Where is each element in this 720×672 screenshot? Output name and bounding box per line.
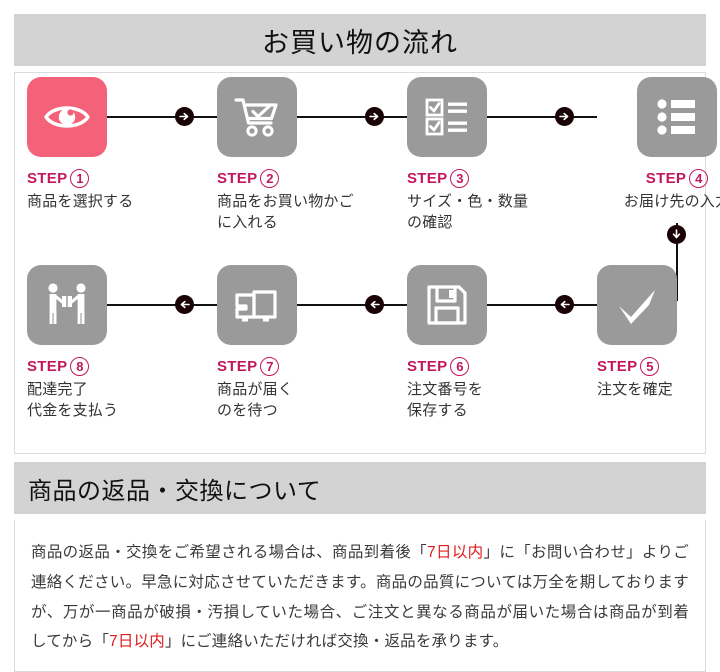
policy-highlight-1: 7日以内 [427, 544, 483, 561]
connector-line-5-6 [487, 304, 597, 306]
step-7-tile [217, 265, 297, 345]
flow-step-5[interactable]: STEP 5 注文を確定 [597, 265, 720, 400]
step-3-tile [407, 77, 487, 157]
step-3-caption: サイズ・色・数量 の確認 [407, 191, 567, 234]
step-6-caption: 注文番号を 保存する [407, 379, 567, 422]
step-7-word: STEP [217, 358, 257, 375]
flow-step-1[interactable]: STEP 1 商品を選択する [27, 77, 187, 212]
step-5-tile [597, 265, 677, 345]
policy-section-header: 商品の返品・交換について [14, 462, 706, 514]
connector-arrow-2-3 [365, 107, 384, 126]
flow-section-header: お買い物の流れ [14, 14, 706, 66]
policy-text-part-3: 」にご連絡いただければ交換・返品を承ります。 [165, 633, 509, 650]
connector-line-6-7 [297, 304, 407, 306]
step-4-caption: お届け先の入力 [597, 191, 720, 212]
policy-body-text: 商品の返品・交換をご希望される場合は、商品到着後「7日以内」に「お問い合わせ」よ… [31, 538, 689, 657]
step-5-word: STEP [597, 358, 637, 375]
connector-line-3-4 [487, 116, 597, 118]
connector-arrow-6-7 [365, 295, 384, 314]
flow-row-top: STEP 1 商品を選択する [15, 77, 705, 263]
eye-icon [42, 92, 92, 142]
connector-arrow-1-2 [175, 107, 194, 126]
flow-step-2[interactable]: STEP 2 商品をお買い物かご に入れる [217, 77, 377, 234]
step-6-label: STEP 6 [407, 356, 567, 376]
connector-line-1-2 [107, 116, 217, 118]
top-spacer [0, 0, 720, 14]
step-6-tile [407, 265, 487, 345]
step-4-tile [637, 77, 717, 157]
connector-arrow-5-6 [555, 295, 574, 314]
step-2-caption: 商品をお買い物かご に入れる [217, 191, 377, 234]
step-4-word: STEP [646, 170, 686, 187]
step-8-caption: 配達完了 代金を支払う [27, 379, 187, 422]
step-3-word: STEP [407, 170, 447, 187]
step-4-label: STEP 4 [597, 168, 720, 188]
step-7-label: STEP 7 [217, 356, 377, 376]
flow-step-4[interactable]: STEP 4 お届け先の入力 [597, 77, 720, 212]
policy-highlight-2: 7日以内 [109, 633, 165, 650]
connector-line-7-8 [107, 304, 217, 306]
handover-package-icon [41, 279, 93, 331]
step-5-number: 5 [640, 357, 659, 376]
flow-step-3[interactable]: STEP 3 サイズ・色・数量 の確認 [407, 77, 567, 234]
policy-body-panel: 商品の返品・交換をご希望される場合は、商品到着後「7日以内」に「お問い合わせ」よ… [14, 520, 706, 672]
step-5-label: STEP 5 [597, 356, 720, 376]
step-2-tile [217, 77, 297, 157]
step-8-number: 8 [70, 357, 89, 376]
step-2-word: STEP [217, 170, 257, 187]
step-3-number: 3 [450, 169, 469, 188]
step-7-caption: 商品が届く のを待つ [217, 379, 377, 422]
flow-step-7[interactable]: STEP 7 商品が届く のを待つ [217, 265, 377, 422]
connector-arrow-3-4 [555, 107, 574, 126]
flow-step-6[interactable]: STEP 6 注文番号を 保存する [407, 265, 567, 422]
shopping-cart-icon [231, 91, 283, 143]
connector-arrow-4-5 [667, 225, 686, 244]
step-8-word: STEP [27, 358, 67, 375]
bullet-list-icon [653, 93, 701, 141]
delivery-truck-icon [231, 279, 283, 331]
shopping-flow-page: お買い物の流れ [0, 0, 720, 672]
connector-arrow-7-8 [175, 295, 194, 314]
step-1-label: STEP 1 [27, 168, 187, 188]
step-6-word: STEP [407, 358, 447, 375]
step-6-number: 6 [450, 357, 469, 376]
step-1-number: 1 [70, 169, 89, 188]
step-5-caption: 注文を確定 [597, 379, 720, 400]
flow-diagram-panel: STEP 1 商品を選択する [14, 72, 706, 454]
step-1-caption: 商品を選択する [27, 191, 187, 212]
step-4-number: 4 [689, 169, 708, 188]
policy-section-title: 商品の返品・交換について [28, 471, 321, 506]
step-3-label: STEP 3 [407, 168, 567, 188]
step-2-label: STEP 2 [217, 168, 377, 188]
step-1-tile [27, 77, 107, 157]
checklist-icon [423, 93, 471, 141]
step-7-number: 7 [260, 357, 279, 376]
flow-step-8[interactable]: STEP 8 配達完了 代金を支払う [27, 265, 187, 422]
step-8-label: STEP 8 [27, 356, 187, 376]
floppy-disk-save-icon [423, 281, 471, 329]
checkmark-icon [612, 280, 662, 330]
mid-spacer [0, 454, 720, 462]
step-2-number: 2 [260, 169, 279, 188]
step-1-word: STEP [27, 170, 67, 187]
policy-text-part-1: 商品の返品・交換をご希望される場合は、商品到着後「 [31, 544, 427, 561]
connector-line-2-3 [297, 116, 407, 118]
flow-row-bottom: STEP 8 配達完了 代金を支払う [15, 265, 705, 451]
step-8-tile [27, 265, 107, 345]
flow-section-title: お買い物の流れ [262, 21, 458, 60]
